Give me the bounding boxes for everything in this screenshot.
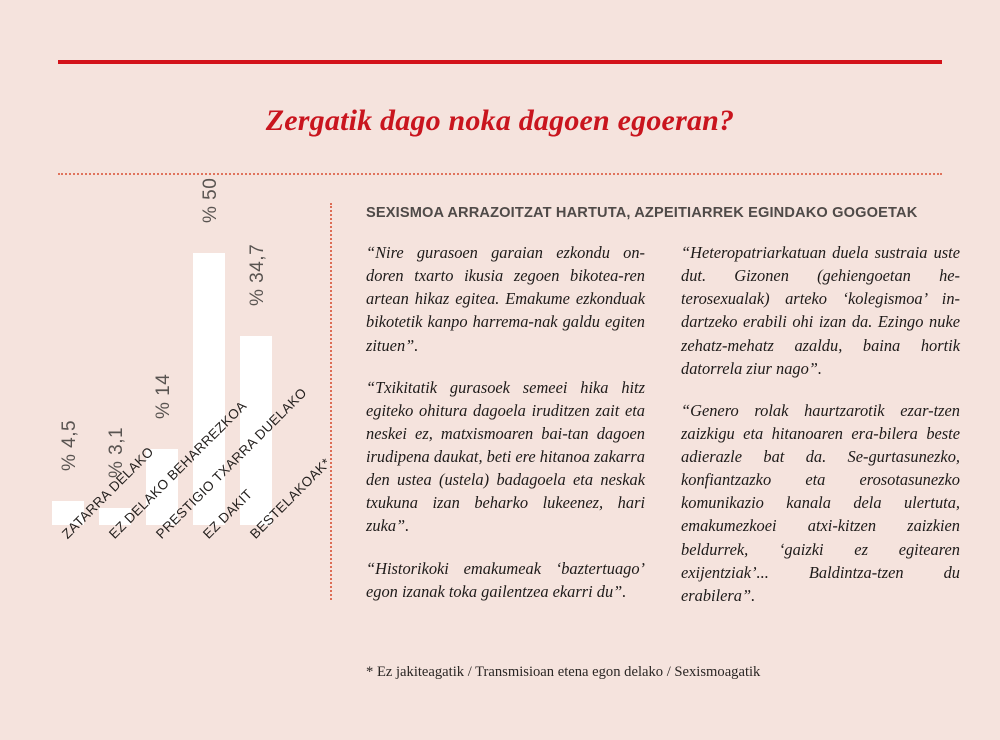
panel-heading: SEXISMOA ARRAZOITZAT HARTUTA, AZPEITIARR… (366, 205, 960, 221)
bar-chart: % 4,5% 3,1% 14% 50% 34,7 ZATARRA DELAKOE… (40, 200, 320, 660)
bar-value-label: % 4,5 (59, 420, 81, 471)
quote-columns: “Nire gurasoen garaian ezkondu on-doren … (366, 241, 960, 607)
footnote: * Ez jakiteagatik / Transmisioan etena e… (366, 664, 760, 681)
bar-slot: % 34,7 (233, 200, 279, 525)
quote-item: “Heteropatriarkatuan duela sustraia uste… (681, 241, 960, 380)
infographic-page: { "title": "Zergatik dago noka dagoen eg… (0, 0, 1000, 740)
quote-item: “Historikoki emakumeak ‘baztertuago’ ego… (366, 557, 645, 603)
quote-item: “Genero rolak haurtzarotik ezar-tzen zai… (681, 399, 960, 607)
bar-value-label: % 34,7 (247, 244, 269, 306)
vertical-dotted-divider (330, 203, 332, 600)
page-title: Zergatik dago noka dagoen egoeran? (0, 104, 1000, 138)
quote-item: “Nire gurasoen garaian ezkondu on-doren … (366, 241, 645, 357)
top-red-rule (58, 60, 942, 64)
quote-item: “Txikitatik gurasoek semeei hika hitz eg… (366, 376, 645, 538)
quote-column-right: “Heteropatriarkatuan duela sustraia uste… (681, 241, 960, 607)
bar-value-label: % 14 (153, 374, 175, 419)
quote-column-left: “Nire gurasoen garaian ezkondu on-doren … (366, 241, 645, 607)
commentary-panel: SEXISMOA ARRAZOITZAT HARTUTA, AZPEITIARR… (366, 205, 960, 607)
horizontal-dotted-divider (58, 173, 942, 175)
bar-value-label: % 50 (200, 178, 222, 223)
bar-slot: % 4,5 (45, 200, 91, 525)
